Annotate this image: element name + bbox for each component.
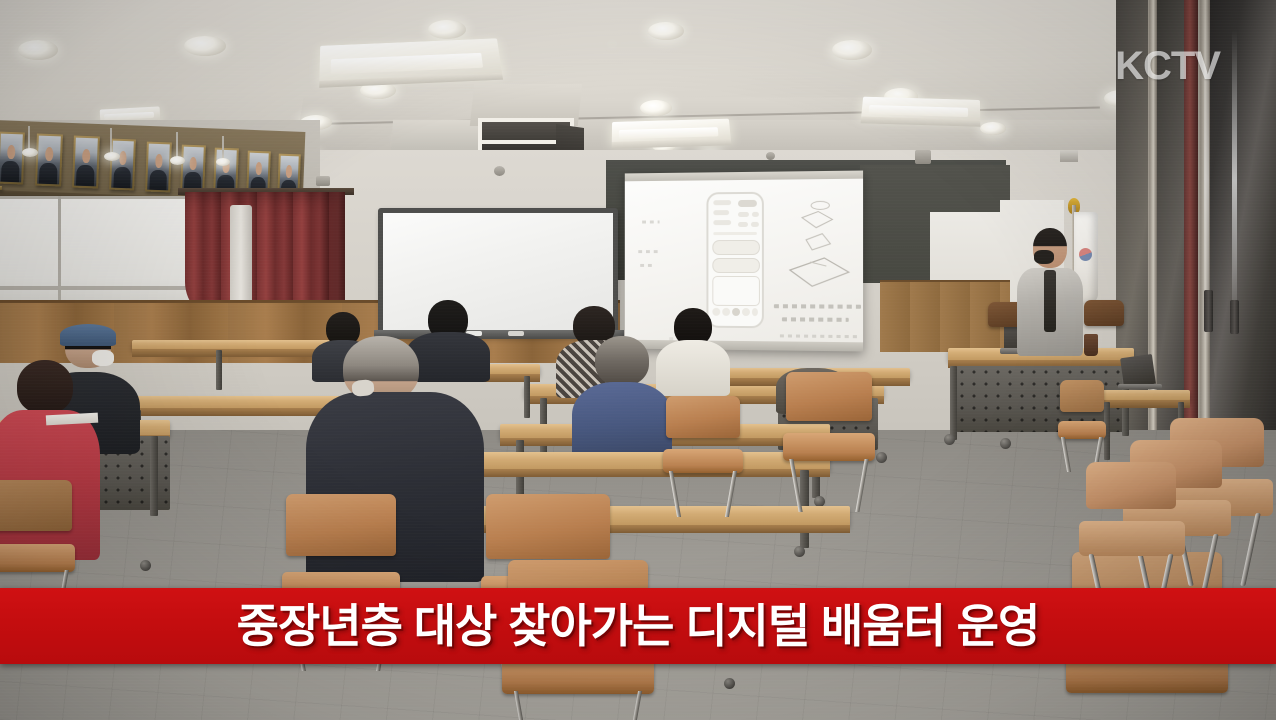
pendant-cord: [110, 128, 112, 154]
wall-portrait: [72, 136, 100, 189]
ceiling-panel-light: [319, 38, 502, 82]
blue-cap: [60, 324, 116, 346]
ceiling-panel-light: [612, 119, 731, 144]
wall-portrait: [180, 145, 206, 195]
channel-watermark: KCTV: [1115, 44, 1220, 89]
table-caster: [724, 678, 735, 689]
desk-caster: [1000, 438, 1011, 449]
slide-illustration: [780, 195, 855, 297]
pendant-bulb-icon: [216, 158, 230, 166]
door-highlight: [1232, 30, 1237, 330]
lower-third-banner: 중장년층 대상 찾아가는 디지털 배움터 운영: [0, 588, 1276, 664]
side-desk: [1098, 390, 1190, 401]
pendant-cord: [176, 132, 178, 158]
downlight-icon: [648, 22, 684, 40]
stacked-chair: [1086, 462, 1176, 580]
wall-portrait: [109, 139, 136, 191]
downlight-icon: [184, 36, 226, 56]
table-leg: [216, 350, 222, 390]
desk-leg: [950, 366, 957, 440]
pendant-bulb-icon: [22, 148, 38, 157]
headline-text: 중장년층 대상 찾아가는 디지털 배움터 운영: [237, 603, 1040, 649]
left-window: [0, 196, 196, 316]
window-mullion: [0, 286, 196, 290]
wall-sensor-icon: [494, 166, 505, 176]
empty-chair: [1060, 380, 1104, 450]
student-table-far-left: [132, 340, 332, 350]
pendant-bulb-icon: [104, 152, 120, 161]
wall-sensor-icon: [316, 176, 330, 186]
instructor: [1016, 228, 1084, 356]
door-handle[interactable]: [1204, 290, 1213, 332]
wall-speaker-icon: [915, 150, 931, 164]
chair-left: [0, 480, 72, 590]
instructor-shirt: [1044, 270, 1056, 332]
pendant-bulb-icon: [170, 156, 185, 165]
downlight-icon: [428, 20, 466, 39]
wall-radiator: [230, 205, 252, 315]
table-leg: [524, 376, 530, 418]
table-leg: [150, 436, 158, 516]
chair: [786, 372, 872, 478]
broadcast-frame: KCTV 중장년층 대상 찾아가는 디지털 배움터 운영: [0, 0, 1276, 720]
wall-portrait: [0, 186, 2, 190]
downlight-icon: [980, 122, 1006, 135]
downlight-icon: [832, 40, 872, 60]
table-caster: [794, 546, 805, 557]
side-laptop-base: [1118, 384, 1162, 389]
wall-sensor-icon: [766, 152, 775, 160]
instructor-chair: [1084, 300, 1124, 356]
face-mask: [1034, 250, 1054, 264]
ceiling-panel-light: [861, 97, 980, 122]
downlight-icon: [640, 100, 672, 116]
pendant-cord: [28, 126, 30, 150]
whiteboard-eraser: [508, 331, 524, 336]
attendee-blue-top: [572, 336, 672, 460]
wall-portrait: [145, 142, 172, 193]
downlight-icon: [18, 40, 58, 60]
table-caster: [140, 560, 151, 571]
wall-portrait: [35, 134, 63, 187]
side-laptop-lid: [1120, 354, 1156, 388]
window-mullion: [58, 196, 61, 316]
wall-portrait: [0, 132, 25, 185]
desk-caster: [944, 434, 955, 445]
chair: [666, 396, 740, 488]
exit-light-icon: [1060, 150, 1078, 162]
door-handle[interactable]: [1230, 300, 1239, 334]
pendant-cord: [222, 136, 224, 160]
table-caster: [876, 452, 887, 463]
